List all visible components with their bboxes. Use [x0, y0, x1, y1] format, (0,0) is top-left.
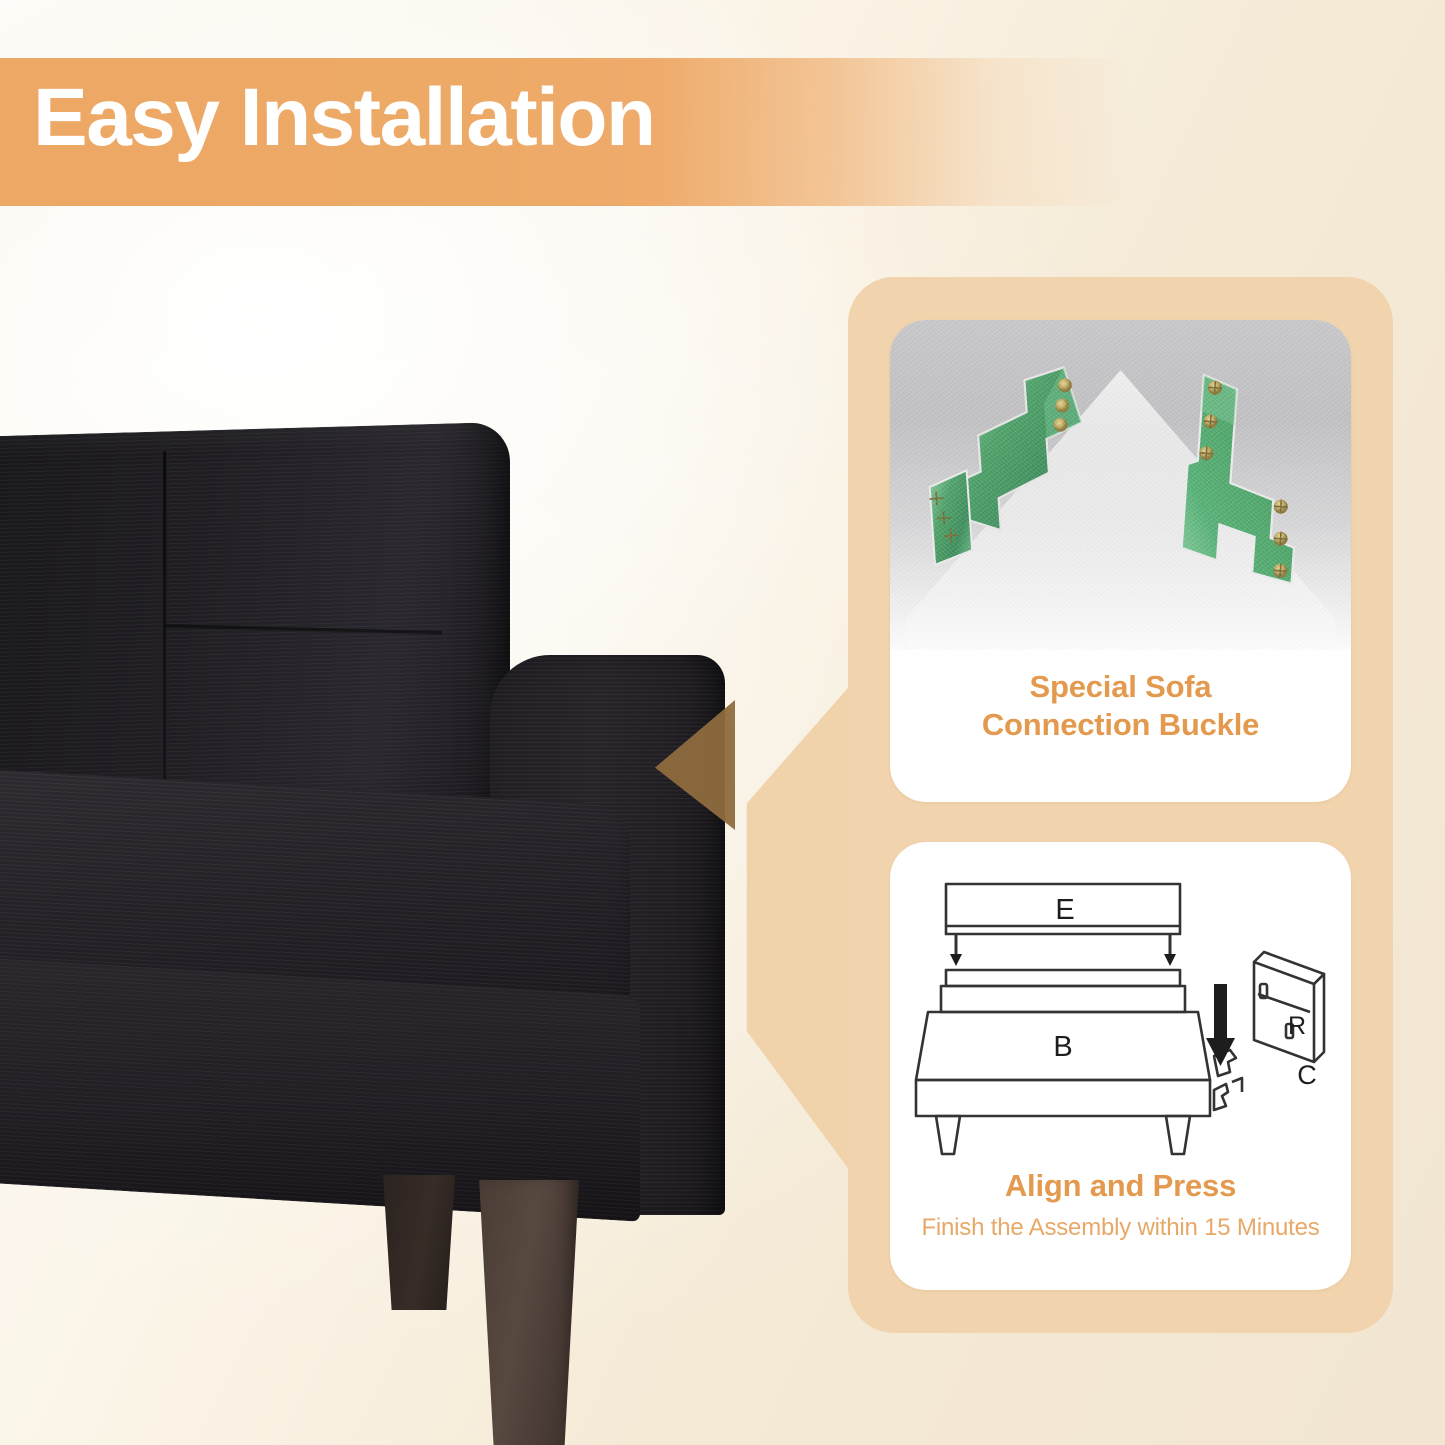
buckle-card: Special Sofa Connection Buckle: [890, 320, 1351, 802]
infographic-page: Easy Installation: [0, 0, 1445, 1445]
buckle-card-caption: Special Sofa Connection Buckle: [890, 668, 1351, 744]
buckle-caption-line-2: Connection Buckle: [890, 706, 1351, 744]
assembly-card-subtitle-wrap: Finish the Assembly within 15 Minutes: [890, 1212, 1351, 1243]
feature-panel: Special Sofa Connection Buckle: [848, 277, 1393, 1333]
cushion-seam-horizontal: [164, 624, 442, 635]
sofa-product-photo: [0, 415, 765, 1425]
sofa-leg-front: [475, 1180, 579, 1445]
diagram-label-base: B: [1053, 1031, 1072, 1063]
diagram-label-bracket: C: [1297, 1060, 1317, 1090]
assembly-card-caption: Align and Press: [890, 1167, 1351, 1205]
sofa-backrest-cushion: [0, 422, 510, 823]
assembly-diagram: E B R C: [908, 866, 1334, 1166]
photo-fold-highlight: [906, 370, 1336, 650]
assembly-subtitle: Finish the Assembly within 15 Minutes: [890, 1212, 1351, 1243]
connection-buckle-hardware: [890, 320, 1351, 650]
assembly-card: E B R C Align and Press Finish the Assem…: [890, 842, 1351, 1290]
diagram-label-armrest: R: [1288, 1012, 1306, 1040]
down-arrow-icon: [1206, 984, 1235, 1066]
diagram-label-backrest: E: [1055, 894, 1074, 926]
assembly-caption-line-1: Align and Press: [890, 1167, 1351, 1205]
page-title: Easy Installation: [33, 77, 655, 159]
sofa-leg-rear: [383, 1175, 455, 1310]
buckle-photo: [890, 320, 1351, 650]
buckle-caption-line-1: Special Sofa: [890, 668, 1351, 706]
